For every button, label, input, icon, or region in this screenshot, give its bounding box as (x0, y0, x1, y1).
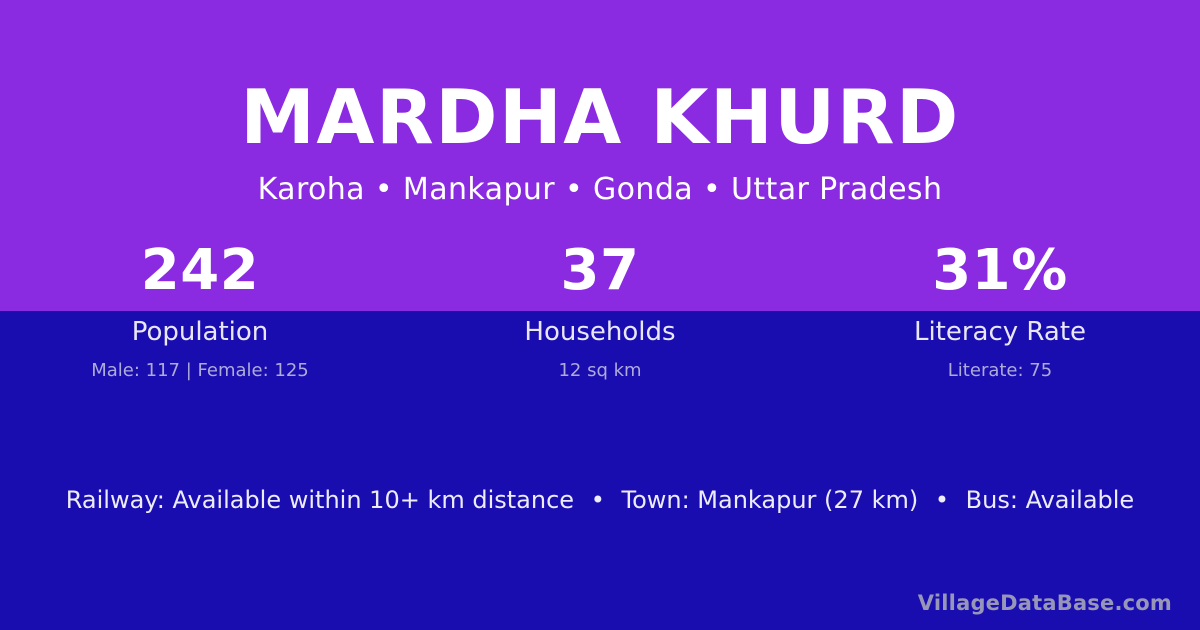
village-info-card: MARDHA KHURD Karoha • Mankapur • Gonda •… (0, 0, 1200, 630)
card-content: MARDHA KHURD Karoha • Mankapur • Gonda •… (0, 0, 1200, 630)
card-header: MARDHA KHURD Karoha • Mankapur • Gonda •… (0, 78, 1200, 208)
stat-label: Households (400, 318, 800, 347)
stat-sublabel: 12 sq km (400, 361, 800, 381)
stat-sublabel: Male: 117 | Female: 125 (0, 361, 400, 381)
stat-value: 242 (0, 243, 400, 299)
info-item-bus: Bus: Available (966, 486, 1135, 514)
info-item-town: Town: Mankapur (27 km) (621, 486, 918, 514)
info-item-railway: Railway: Available within 10+ km distanc… (66, 486, 574, 514)
stat-value: 37 (400, 243, 800, 299)
stat-label: Population (0, 318, 400, 347)
stat-label: Literacy Rate (800, 318, 1200, 347)
site-brand-watermark: VillageDataBase.com (918, 591, 1172, 616)
stat-value: 31% (800, 243, 1200, 299)
breadcrumb: Karoha • Mankapur • Gonda • Uttar Prades… (0, 172, 1200, 208)
page-title: MARDHA KHURD (0, 78, 1200, 158)
stat-population: 242 Population Male: 117 | Female: 125 (0, 243, 400, 380)
bullet-separator-icon: • (926, 486, 958, 514)
stat-literacy-rate: 31% Literacy Rate Literate: 75 (800, 243, 1200, 380)
bullet-separator-icon: • (582, 486, 614, 514)
stats-row: 242 Population Male: 117 | Female: 125 3… (0, 243, 1200, 380)
stat-sublabel: Literate: 75 (800, 361, 1200, 381)
facilities-info-line: Railway: Available within 10+ km distanc… (0, 486, 1200, 515)
stat-households: 37 Households 12 sq km (400, 243, 800, 380)
